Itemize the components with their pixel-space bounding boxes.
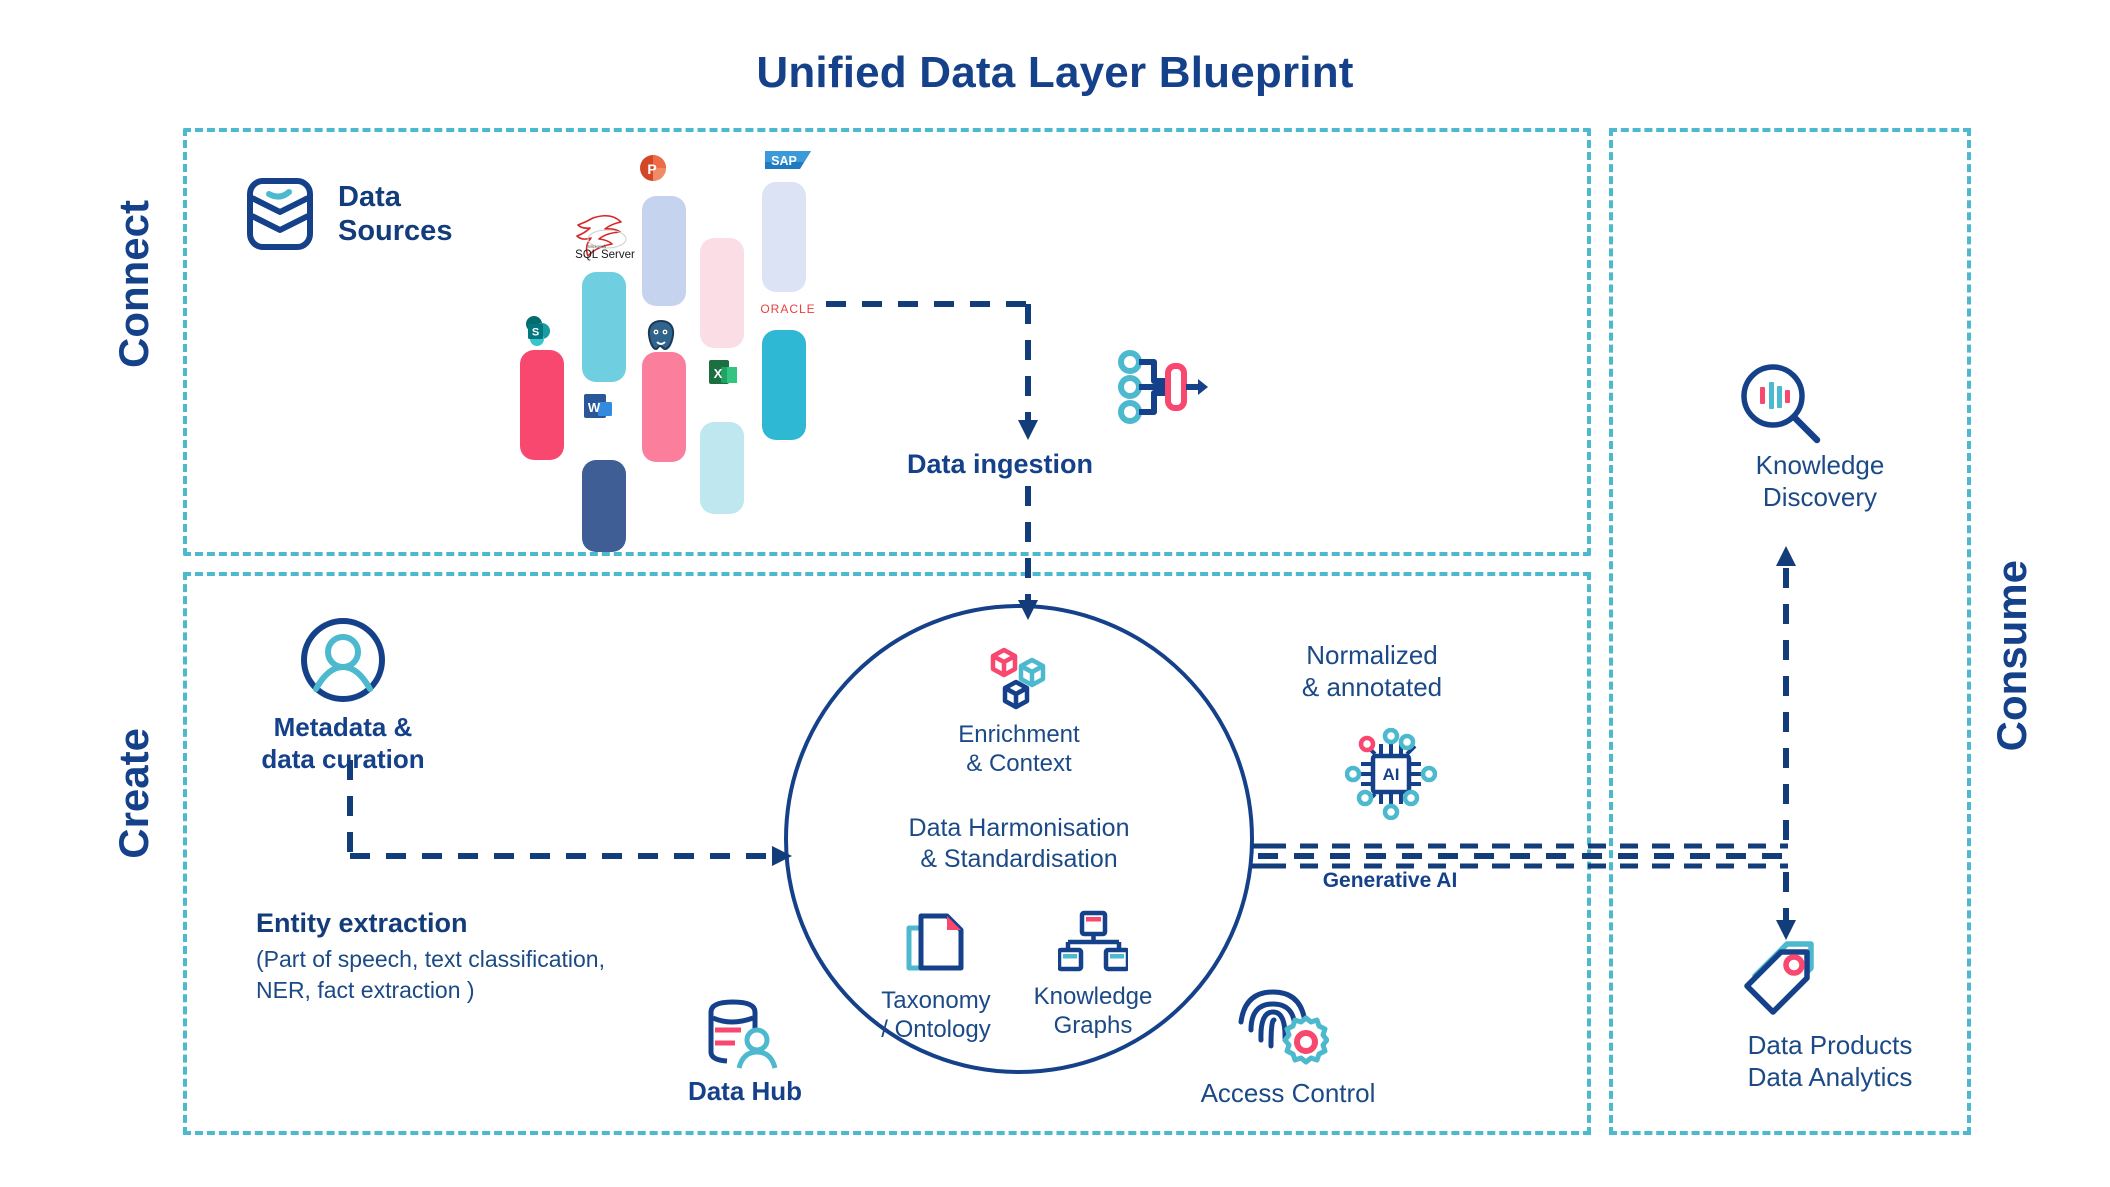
price-tag-icon [1733,938,1829,1024]
sharepoint-logo: S [521,313,555,347]
page-title: Unified Data Layer Blueprint [0,48,2110,98]
database-stack-icon [247,178,313,250]
taxonomy-ontology-label: Taxonomy / Ontology [856,986,1016,1045]
bar-lavender-1 [642,196,686,306]
bar-lavender-2 [762,182,806,292]
database-user-icon [705,996,783,1072]
generative-ai-label: Generative AI [1270,868,1510,894]
svg-text:AI: AI [1383,765,1400,784]
svg-text:ORACLE: ORACLE [760,302,815,316]
data-harmonisation-label: Data Harmonisation & Standardisation [869,813,1169,874]
fingerprint-gear-icon [1233,984,1329,1076]
microsoft-word-logo: W [582,390,614,422]
data-hub-label: Data Hub [620,1076,870,1108]
bar-cyanpale-1 [700,422,744,514]
sap-logo: SAP [764,148,812,172]
svg-text:S: S [532,327,539,339]
oracle-logo: ORACLE [757,300,819,318]
enrichment-context-label: Enrichment & Context [889,720,1149,779]
entity-extraction-detail: (Part of speech, text classification, NE… [256,944,605,1006]
data-ingestion-label: Data ingestion [830,448,1170,481]
access-control-label: Access Control [1178,1078,1398,1110]
microsoft-sql-server-logo: SQL Server Microsoft [573,212,637,262]
postgresql-logo [645,318,677,352]
data-products-label: Data Products Data Analytics [1650,1030,2010,1093]
normalized-annotated-label: Normalized & annotated [1222,640,1522,703]
data-ingestion-funnel-icon [1118,348,1210,426]
svg-text:P: P [647,161,656,177]
diagram-canvas: Unified Data Layer Blueprint Connect Cre… [0,0,2110,1187]
bar-pink-2 [642,352,686,462]
bar-blush-1 [700,238,744,348]
bar-steel-1 [582,460,626,552]
ai-chip-icon: AI [1345,728,1437,820]
knowledge-graphs-label: Knowledge Graphs [1013,982,1173,1041]
microsoft-excel-logo: X [707,356,739,388]
document-pages-icon [905,910,967,976]
bar-cyan-1 [582,272,626,382]
svg-text:W: W [588,400,601,415]
magnifier-bars-icon [1737,360,1825,448]
knowledge-discovery-label: Knowledge Discovery [1670,450,1970,513]
data-sources-label: Data Sources [338,180,452,248]
metadata-curation-label: Metadata & data curation [213,712,473,775]
entity-extraction-title: Entity extraction [256,908,468,939]
bar-pink-1 [520,350,564,460]
svg-text:SQL Server: SQL Server [575,249,635,261]
stage-label-consume: Consume [1988,560,2036,751]
user-profile-circle-icon [300,617,386,703]
svg-text:SAP: SAP [771,154,797,168]
hierarchy-nodes-icon [1058,910,1128,972]
stage-label-create: Create [110,728,158,859]
microsoft-powerpoint-logo: P [638,152,672,186]
bar-cyan-2 [762,330,806,440]
three-cubes-icon [988,644,1066,720]
svg-text:Microsoft: Microsoft [588,244,607,249]
svg-text:X: X [714,366,723,381]
stage-label-connect: Connect [110,200,158,368]
